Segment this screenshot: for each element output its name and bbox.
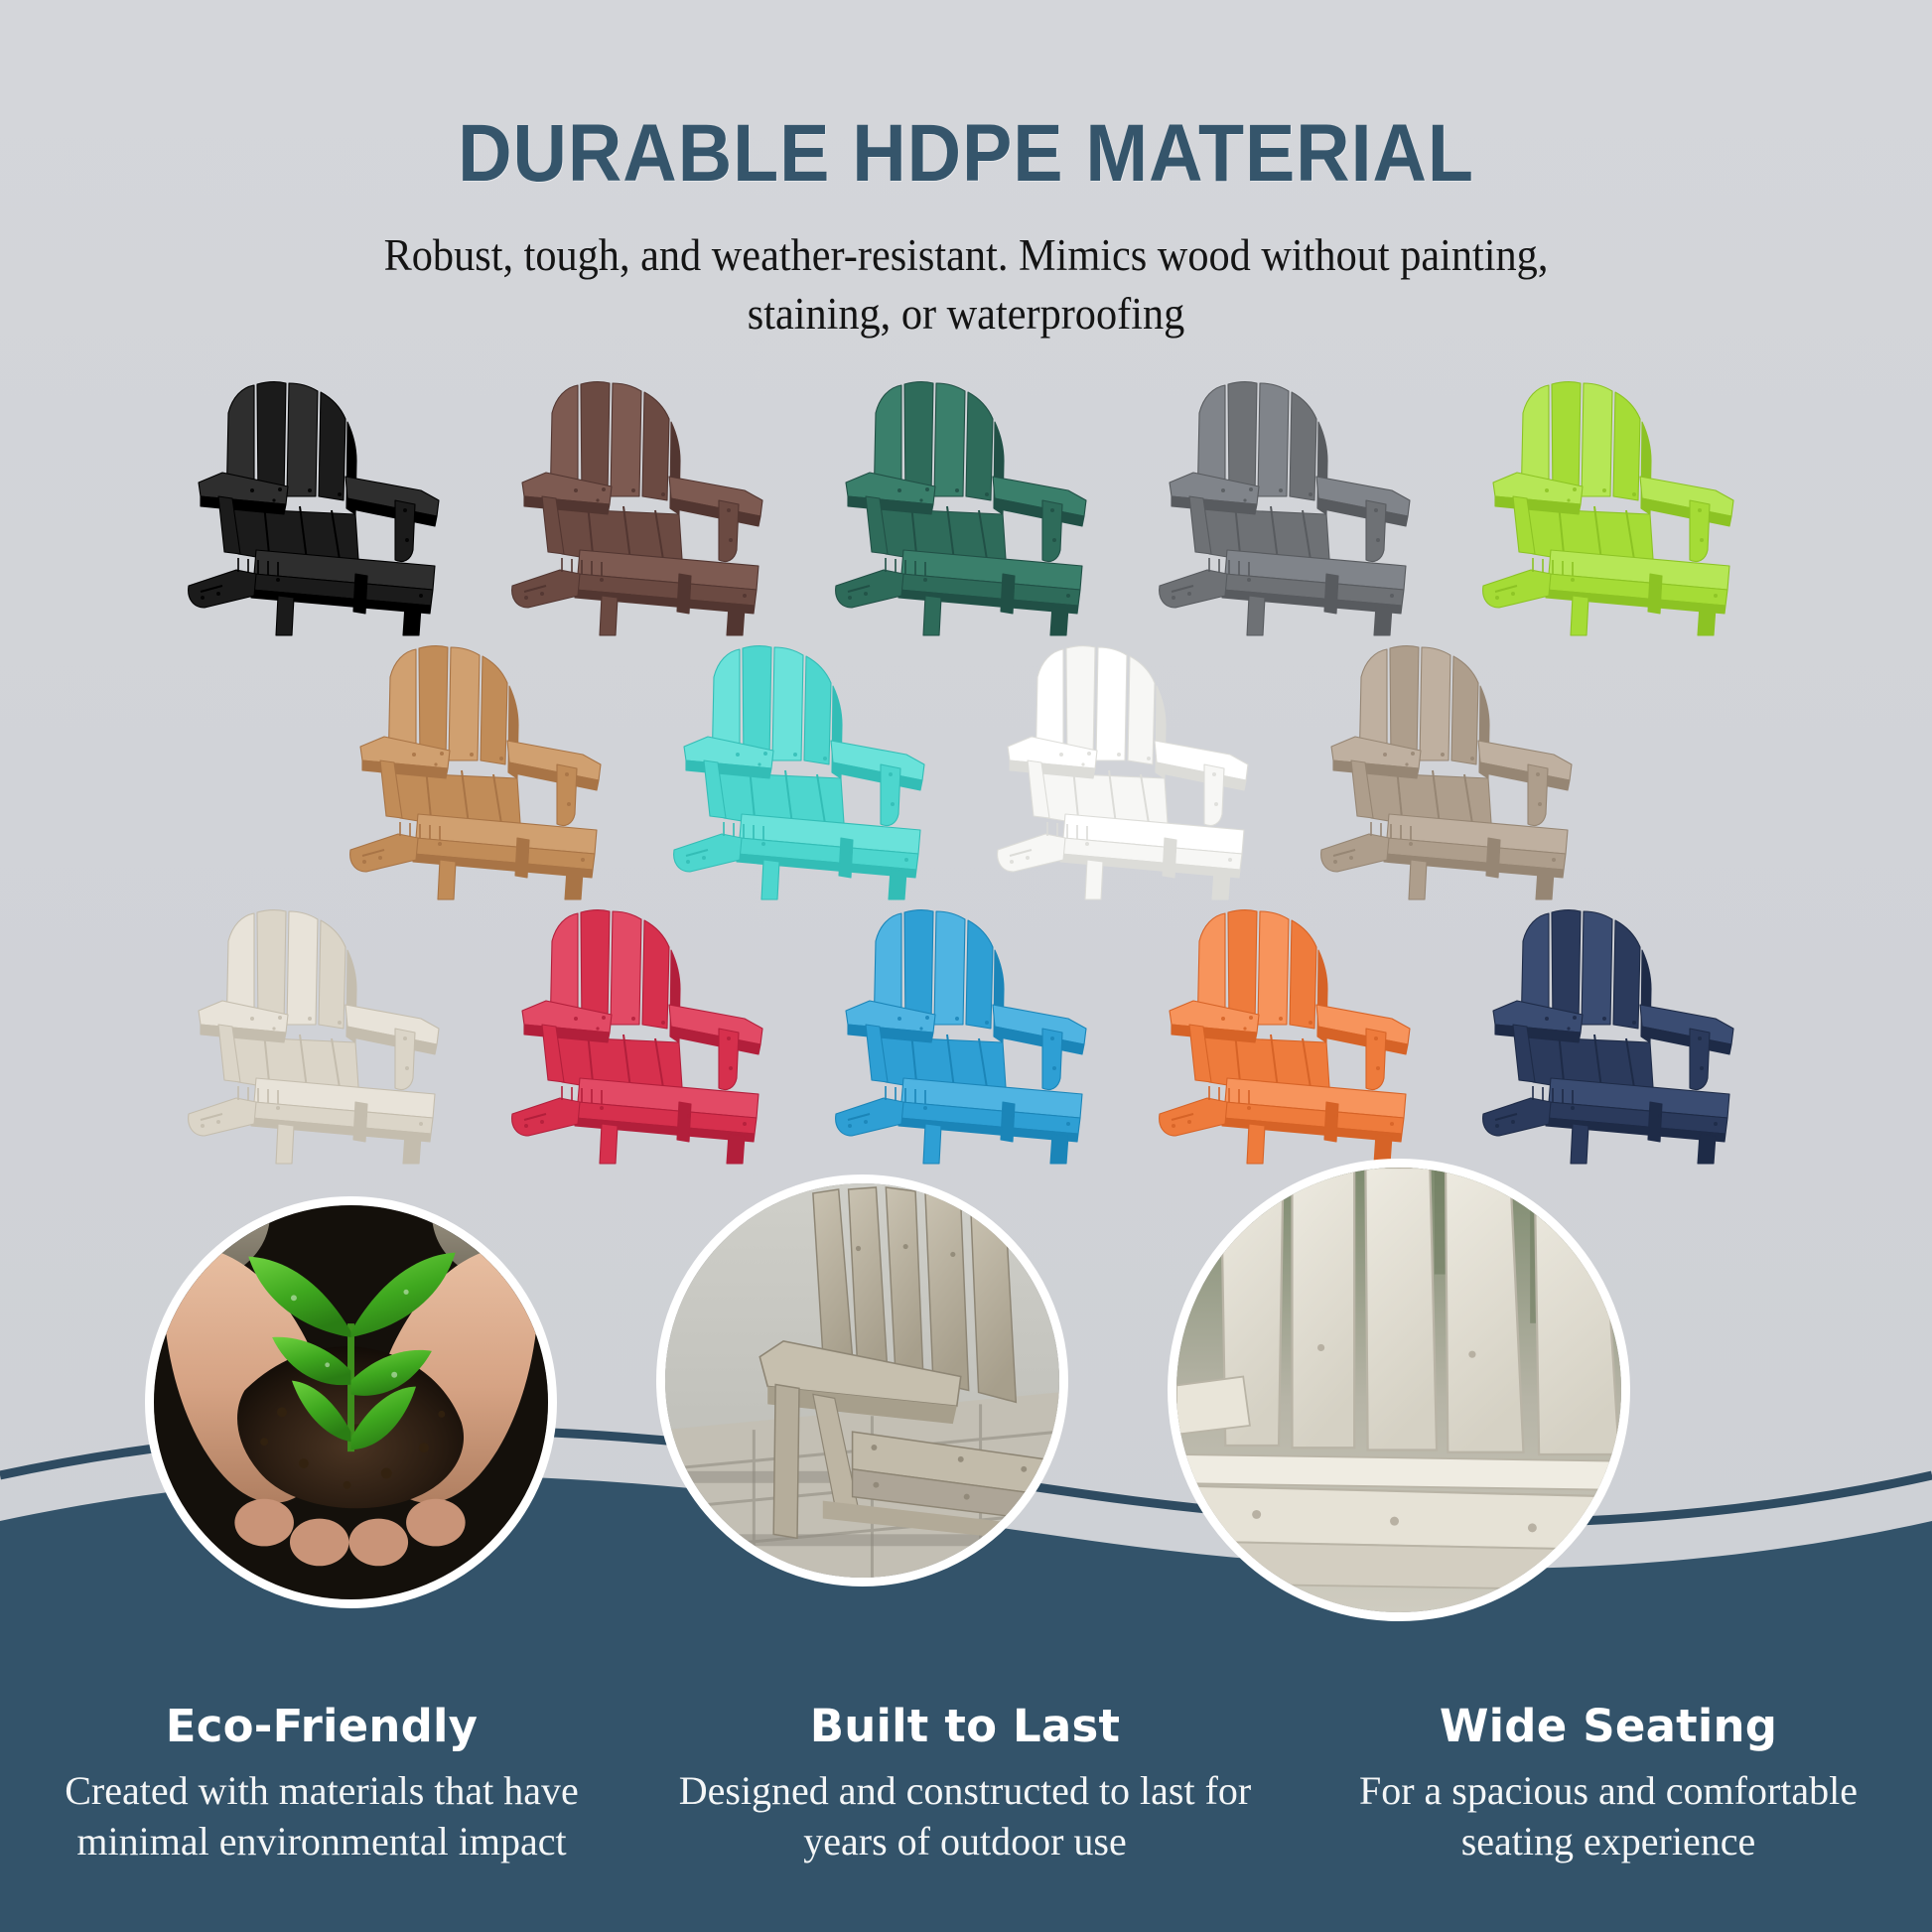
- chair-swatch-brown[interactable]: [484, 369, 800, 637]
- feature-photo-built-to-last: [656, 1174, 1068, 1587]
- feature-body: For a spacious and comfortable seating e…: [1312, 1766, 1904, 1866]
- adirondack-chair-icon: [970, 633, 1286, 901]
- feature-heading: Built to Last: [669, 1700, 1261, 1752]
- chair-swatch-navy-blue[interactable]: [1455, 897, 1771, 1166]
- chair-swatch-weathered-wood[interactable]: [1294, 633, 1609, 901]
- adirondack-chair-icon: [1294, 633, 1609, 901]
- chair-swatch-black[interactable]: [161, 369, 477, 637]
- adirondack-chair-icon: [161, 369, 477, 637]
- feature-eco-friendly: Eco-Friendly Created with materials that…: [0, 1700, 643, 1866]
- hands-seedling-photo: [154, 1205, 548, 1599]
- adirondack-chair-icon: [1455, 897, 1771, 1166]
- chair-color-grid: [0, 369, 1932, 1166]
- feature-body: Designed and constructed to last for yea…: [669, 1766, 1261, 1866]
- adirondack-chair-icon: [1132, 369, 1448, 637]
- chair-swatch-light-blue[interactable]: [808, 897, 1124, 1166]
- chair-swatch-lime-green[interactable]: [1455, 369, 1771, 637]
- feature-photo-row: [0, 1196, 1932, 1623]
- adirondack-chair-icon: [161, 897, 477, 1166]
- chair-swatch-crimson-red[interactable]: [484, 897, 800, 1166]
- chair-swatch-white[interactable]: [970, 633, 1286, 901]
- chair-swatch-dark-green[interactable]: [808, 369, 1124, 637]
- adirondack-chair-icon: [808, 369, 1124, 637]
- page-subtitle: Robust, tough, and weather-resistant. Mi…: [345, 226, 1587, 343]
- chair-swatch-orange[interactable]: [1132, 897, 1448, 1166]
- adirondack-chair-icon: [1132, 897, 1448, 1166]
- chair-row-1: [0, 369, 1932, 637]
- chair-swatch-gray[interactable]: [1132, 369, 1448, 637]
- feature-photo-wide-seating: [1168, 1159, 1630, 1621]
- chair-swatch-teak[interactable]: [323, 633, 638, 901]
- feature-photo-eco-friendly: [145, 1196, 557, 1608]
- feature-wide-seating: Wide Seating For a spacious and comforta…: [1287, 1700, 1930, 1866]
- adirondack-chair-icon: [646, 633, 962, 901]
- adirondack-chair-icon: [1455, 369, 1771, 637]
- chair-swatch-ivory-sand[interactable]: [161, 897, 477, 1166]
- wide-seat-closeup-photo: [1176, 1168, 1621, 1612]
- patio-chair-photo: [665, 1183, 1059, 1578]
- infographic-canvas: DURABLE HDPE MATERIAL Robust, tough, and…: [0, 0, 1932, 1932]
- feature-caption-row: Eco-Friendly Created with materials that…: [0, 1700, 1932, 1866]
- feature-body: Created with materials that have minimal…: [26, 1766, 618, 1866]
- feature-heading: Eco-Friendly: [26, 1700, 618, 1752]
- chair-swatch-turquoise[interactable]: [646, 633, 962, 901]
- chair-row-2: [0, 633, 1932, 901]
- header: DURABLE HDPE MATERIAL Robust, tough, and…: [0, 0, 1932, 343]
- feature-built-to-last: Built to Last Designed and constructed t…: [643, 1700, 1287, 1866]
- adirondack-chair-icon: [484, 897, 800, 1166]
- page-title: DURABLE HDPE MATERIAL: [77, 107, 1855, 201]
- chair-row-3: [0, 897, 1932, 1166]
- adirondack-chair-icon: [323, 633, 638, 901]
- adirondack-chair-icon: [808, 897, 1124, 1166]
- feature-heading: Wide Seating: [1312, 1700, 1904, 1752]
- adirondack-chair-icon: [484, 369, 800, 637]
